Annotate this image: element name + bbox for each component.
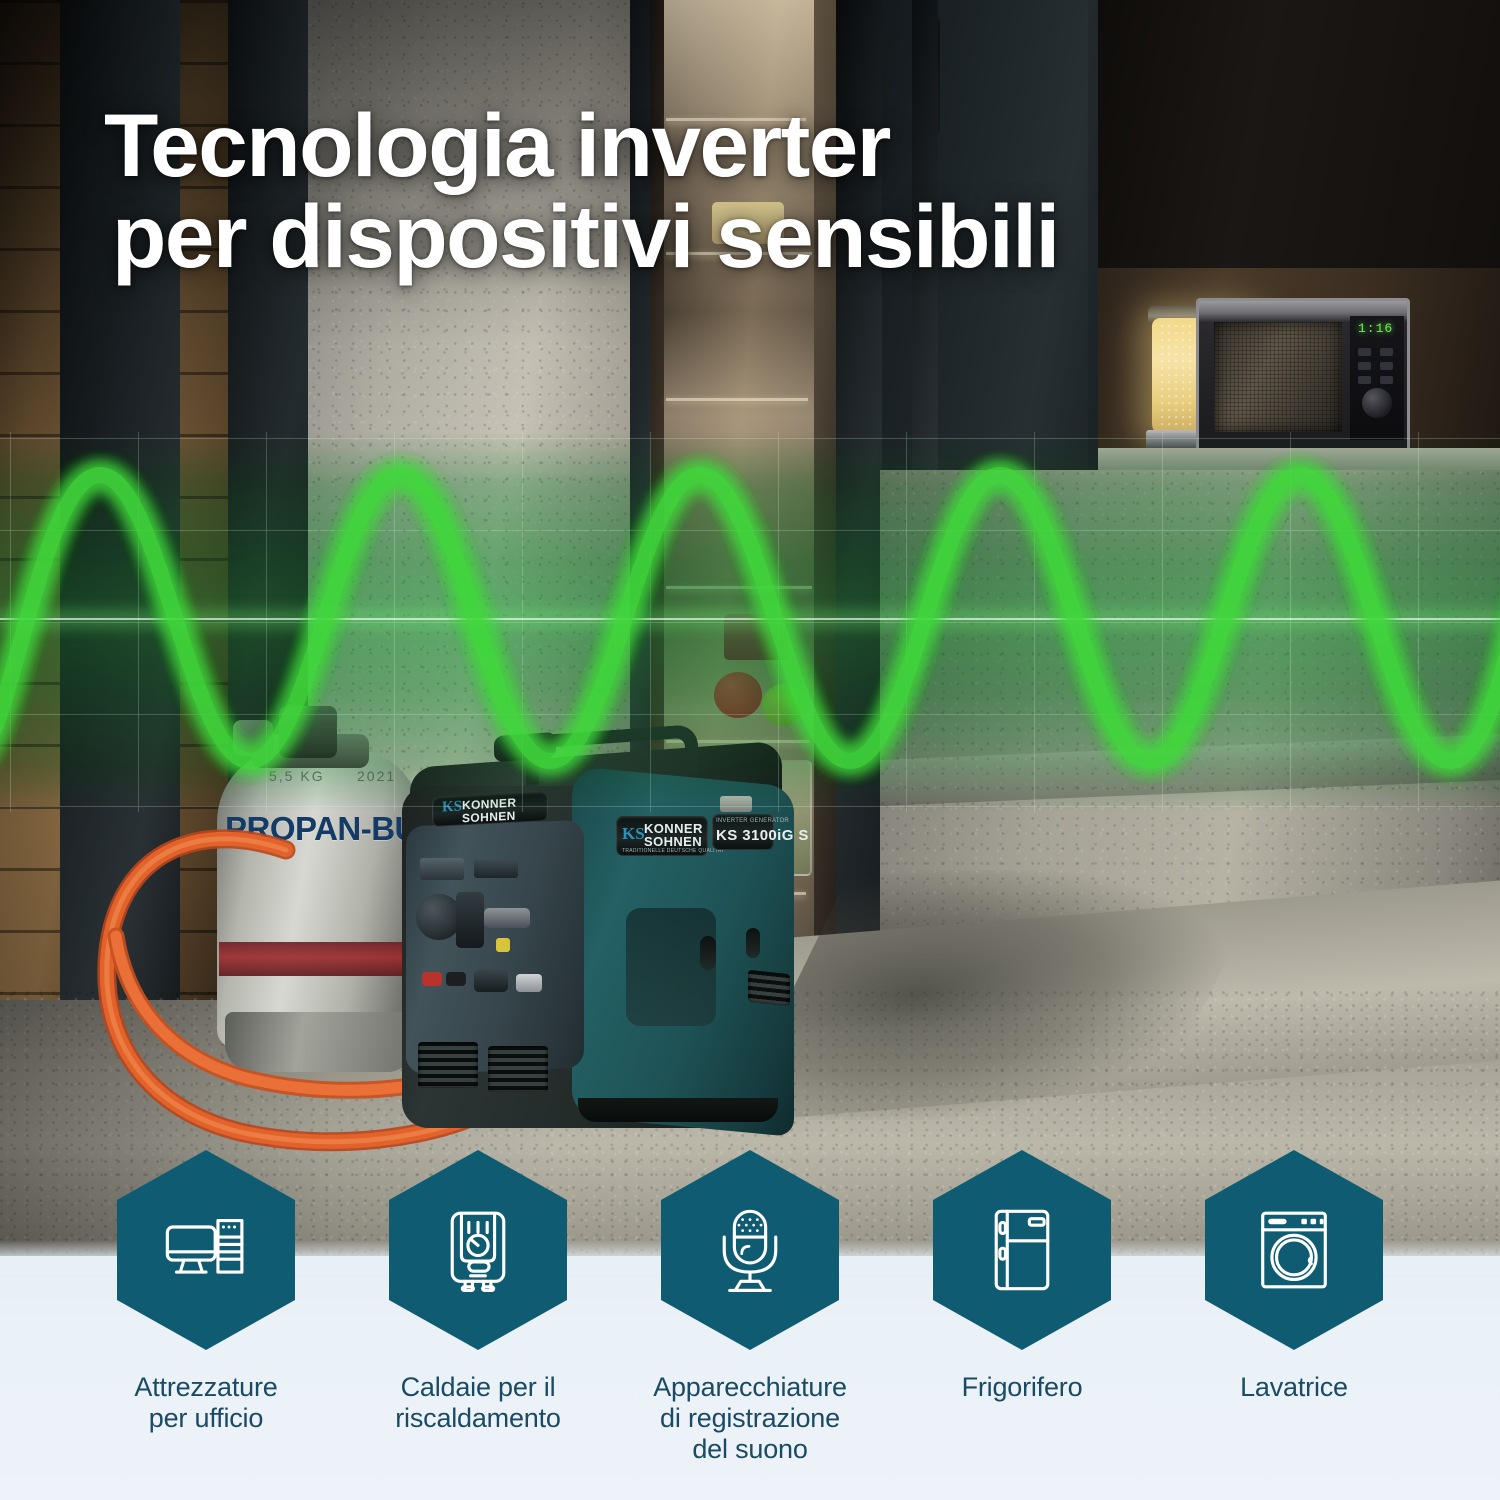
microwave-dial bbox=[1362, 388, 1392, 418]
feature-label: Attrezzature per ufficio bbox=[132, 1372, 279, 1434]
feature-label-line2: per ufficio bbox=[149, 1403, 263, 1433]
feature-refrigerator[interactable]: Frigorifero bbox=[906, 1150, 1138, 1403]
microwave-button bbox=[1380, 362, 1393, 370]
feature-hexagon bbox=[1205, 1150, 1383, 1350]
generator-door-recess bbox=[700, 936, 716, 970]
fridge-food-tomato bbox=[714, 672, 762, 718]
feature-hexagon bbox=[117, 1150, 295, 1350]
boiler-heater-icon bbox=[432, 1204, 524, 1296]
panel-terminal-red bbox=[422, 972, 442, 986]
feature-washing-machine[interactable]: Lavatrice bbox=[1178, 1150, 1410, 1403]
feature-label: Lavatrice bbox=[1238, 1372, 1350, 1403]
generator-door-recess bbox=[746, 928, 760, 958]
feature-hexagon bbox=[389, 1150, 567, 1350]
microwave-button bbox=[1358, 362, 1371, 370]
microphone-icon bbox=[704, 1204, 796, 1296]
feature-hexagon bbox=[661, 1150, 839, 1350]
microwave-button bbox=[1380, 376, 1393, 384]
feature-label-line2: riscaldamento bbox=[395, 1403, 560, 1433]
generator-side-vent bbox=[748, 970, 790, 1006]
frame-brand-line2: SOHNEN bbox=[462, 809, 516, 826]
feature-label-line1: Lavatrice bbox=[1240, 1372, 1348, 1402]
generator-bottom-vent bbox=[418, 1042, 478, 1088]
headline-line-1: Tecnologia inverter bbox=[104, 95, 890, 195]
panel-socket bbox=[474, 970, 508, 992]
page-title: Tecnologia inverter per dispositivi sens… bbox=[104, 100, 1224, 282]
microwave-window bbox=[1214, 322, 1342, 432]
frame-logo-mark: KS bbox=[442, 798, 462, 816]
features-row: Attrezzature per ufficio bbox=[0, 1150, 1500, 1500]
promo-banner: 1:16 bbox=[0, 0, 1500, 1500]
fridge-food-meat bbox=[724, 614, 788, 660]
generator-fuel-cap bbox=[494, 732, 556, 762]
feature-label-line1: Caldaie per il bbox=[401, 1372, 556, 1402]
panel-connector-block bbox=[456, 892, 484, 948]
generator-sticker bbox=[720, 796, 752, 812]
brand-tagline: TRADITIONELLE DEUTSCHE QUALITAT bbox=[622, 848, 724, 854]
generator-foot-rail bbox=[578, 1098, 778, 1122]
microwave-button bbox=[1358, 348, 1371, 356]
brand-logo-mark: KS bbox=[622, 824, 645, 844]
feature-label-line1: Attrezzature bbox=[134, 1372, 277, 1402]
panel-terminal-black bbox=[446, 972, 466, 986]
panel-display bbox=[474, 860, 518, 878]
computer-monitor-icon bbox=[160, 1204, 252, 1296]
brand-name-line2: SOHNEN bbox=[644, 834, 702, 849]
product-model: KS 3100iG S bbox=[716, 827, 809, 844]
panel-port bbox=[516, 974, 542, 992]
feature-label-line1: Frigorifero bbox=[962, 1372, 1083, 1402]
inverter-generator: KS KONNER SOHNEN TRADITIONELLE DEUTSCHE … bbox=[398, 728, 818, 1148]
panel-switch bbox=[420, 858, 464, 880]
microwave-button bbox=[1358, 376, 1371, 384]
feature-label-line2: di registrazione bbox=[660, 1403, 840, 1433]
fridge-shelf bbox=[666, 586, 812, 589]
feature-office-equipment[interactable]: Attrezzature per ufficio bbox=[90, 1150, 322, 1434]
fridge-food-apple bbox=[762, 684, 804, 726]
gas-inlet-fitting bbox=[484, 908, 530, 928]
product-category: INVERTER GENERATOR bbox=[716, 818, 789, 824]
microwave-display: 1:16 bbox=[1358, 322, 1396, 336]
fridge-shelf bbox=[666, 398, 808, 401]
feature-label-line3: del suono bbox=[692, 1434, 807, 1464]
headline-line-2: per dispositivi sensibili bbox=[104, 191, 1224, 282]
washing-machine-icon bbox=[1248, 1204, 1340, 1296]
feature-label-line1: Apparecchiature bbox=[653, 1372, 847, 1402]
warning-sticker bbox=[496, 938, 510, 952]
microwave-button bbox=[1380, 348, 1393, 356]
feature-hexagon bbox=[933, 1150, 1111, 1350]
feature-heating-boilers[interactable]: Caldaie per il riscaldamento bbox=[362, 1150, 594, 1434]
feature-sound-recording[interactable]: Apparecchiature di registrazione del suo… bbox=[634, 1150, 866, 1464]
generator-bottom-vent bbox=[488, 1046, 548, 1092]
feature-label: Caldaie per il riscaldamento bbox=[393, 1372, 562, 1434]
feature-label: Frigorifero bbox=[960, 1372, 1085, 1403]
refrigerator-icon bbox=[976, 1204, 1068, 1296]
feature-label: Apparecchiature di registrazione del suo… bbox=[651, 1372, 849, 1464]
